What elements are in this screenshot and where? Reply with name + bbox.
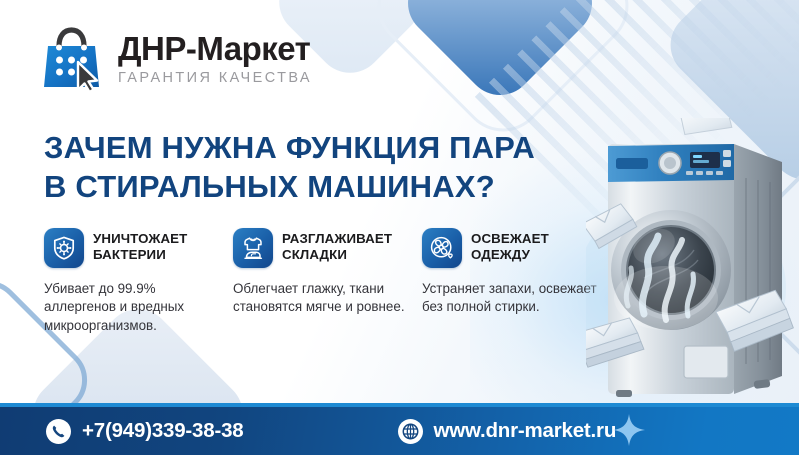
feature-title-line-2: ОДЕЖДУ bbox=[471, 247, 549, 263]
feature-header: РАЗГЛАЖИВАЕТ СКЛАДКИ bbox=[233, 228, 411, 268]
contact-bar: +7(949)339-38-38 www.dnr-market.ru bbox=[0, 403, 799, 455]
feature-title-line-1: РАЗГЛАЖИВАЕТ bbox=[282, 231, 392, 247]
brand-tagline: ГАРАНТИЯ КАЧЕСТВА bbox=[118, 71, 312, 86]
phone-number: +7(949)339-38-38 bbox=[82, 419, 244, 443]
sparkle-icon bbox=[612, 413, 646, 452]
feature-description: Убивает до 99.9% аллергенов и вредных ми… bbox=[44, 280, 222, 335]
shopping-bag-cursor-icon bbox=[42, 26, 104, 92]
feature-list: УНИЧТОЖАЕТ БАКТЕРИИ Убивает до 99.9% алл… bbox=[44, 228, 604, 335]
feature-title-line-1: ОСВЕЖАЕТ bbox=[471, 231, 549, 247]
shirt-iron-icon bbox=[233, 228, 273, 268]
brand-text: ДНР-Маркет ГАРАНТИЯ КАЧЕСТВА bbox=[118, 32, 312, 86]
phone-icon bbox=[46, 419, 71, 444]
headline-line-2: В СТИРАЛЬНЫХ МАШИНАХ? bbox=[44, 167, 624, 206]
brand-name: ДНР-Маркет bbox=[118, 32, 312, 65]
feature-title-line-1: УНИЧТОЖАЕТ bbox=[93, 231, 187, 247]
feature-item-bacteria: УНИЧТОЖАЕТ БАКТЕРИИ Убивает до 99.9% алл… bbox=[44, 228, 222, 335]
shield-virus-icon bbox=[44, 228, 84, 268]
brand-logo[interactable]: ДНР-Маркет ГАРАНТИЯ КАЧЕСТВА bbox=[42, 26, 312, 92]
feature-title: УНИЧТОЖАЕТ БАКТЕРИИ bbox=[93, 228, 187, 262]
headline-line-1: ЗАЧЕМ НУЖНА ФУНКЦИЯ ПАРА bbox=[44, 128, 624, 167]
feature-item-freshen: ОСВЕЖАЕТ ОДЕЖДУ Устраняет запахи, освежа… bbox=[422, 228, 600, 335]
feature-description: Устраняет запахи, освежает без полной ст… bbox=[422, 280, 600, 317]
phone-contact[interactable]: +7(949)339-38-38 bbox=[46, 419, 244, 444]
feature-title: РАЗГЛАЖИВАЕТ СКЛАДКИ bbox=[282, 228, 392, 262]
globe-icon bbox=[398, 419, 423, 444]
feature-description: Облегчает глажку, ткани становятся мягче… bbox=[233, 280, 411, 317]
feature-title-line-2: СКЛАДКИ bbox=[282, 247, 392, 263]
website-contact[interactable]: www.dnr-market.ru bbox=[398, 419, 617, 444]
feature-header: УНИЧТОЖАЕТ БАКТЕРИИ bbox=[44, 228, 222, 268]
headline: ЗАЧЕМ НУЖНА ФУНКЦИЯ ПАРА В СТИРАЛЬНЫХ МА… bbox=[44, 128, 624, 206]
feature-item-wrinkles: РАЗГЛАЖИВАЕТ СКЛАДКИ Облегчает глажку, т… bbox=[233, 228, 411, 335]
promo-banner: ДНР-Маркет ГАРАНТИЯ КАЧЕСТВА ЗАЧЕМ НУЖНА… bbox=[0, 0, 799, 455]
feature-title-line-2: БАКТЕРИИ bbox=[93, 247, 187, 263]
feature-title: ОСВЕЖАЕТ ОДЕЖДУ bbox=[471, 228, 549, 262]
feature-header: ОСВЕЖАЕТ ОДЕЖДУ bbox=[422, 228, 600, 268]
washing-machine-image bbox=[586, 118, 799, 403]
website-url: www.dnr-market.ru bbox=[434, 419, 617, 443]
fan-icon bbox=[422, 228, 462, 268]
